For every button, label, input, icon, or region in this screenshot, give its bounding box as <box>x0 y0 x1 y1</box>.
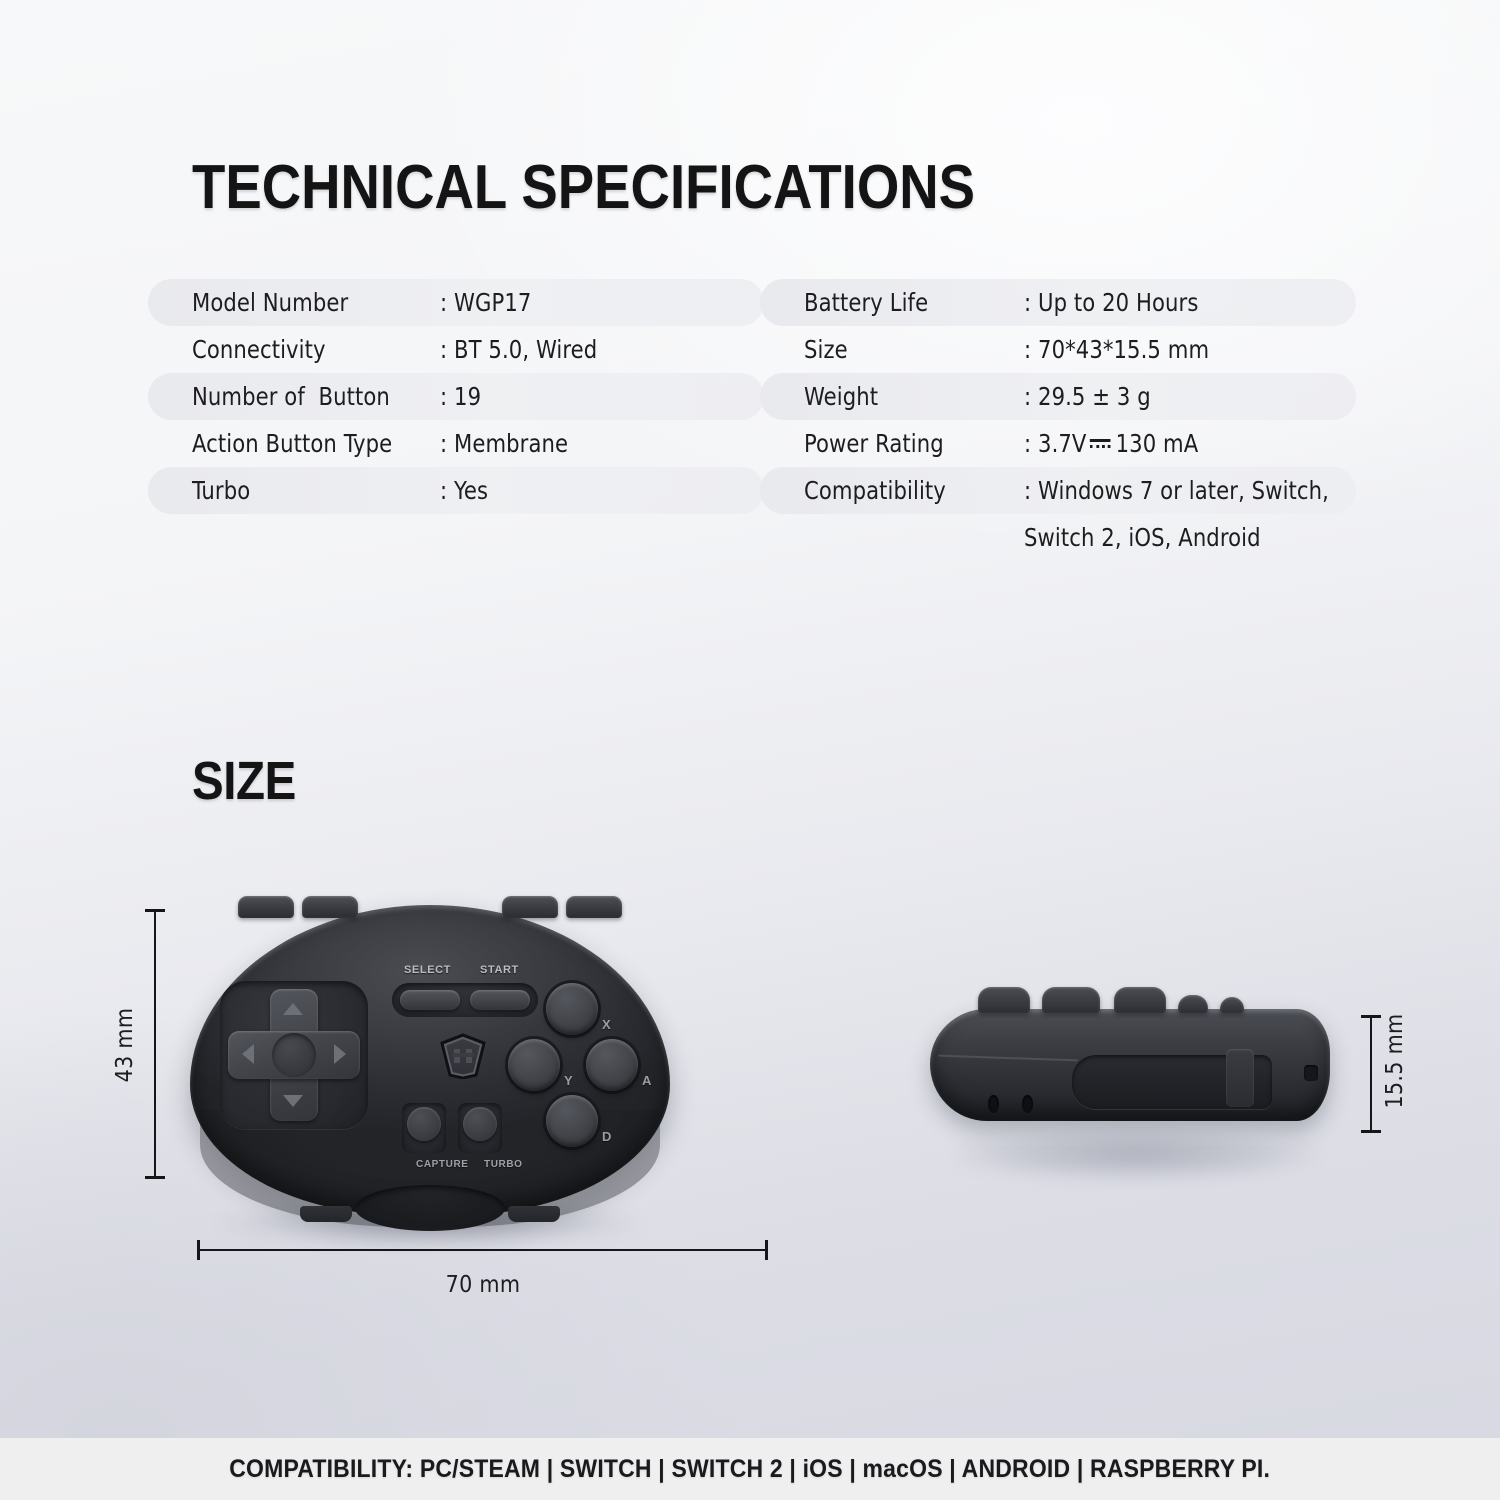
face-button-d-label: D <box>602 1129 611 1144</box>
gamepad-side-hole-2 <box>1022 1095 1033 1113</box>
brand-shield-icon <box>438 1033 488 1079</box>
width-dimension-cap-left <box>197 1240 200 1260</box>
select-button-label: SELECT <box>404 964 451 976</box>
face-button-x <box>546 983 598 1035</box>
spec-value: : WGP17 <box>440 288 741 317</box>
spec-value: : BT 5.0, Wired <box>440 335 741 364</box>
turbo-button-label: TURBO <box>484 1159 523 1170</box>
spec-value-power-rating: : 3.7V130 mA <box>1024 429 1334 458</box>
thickness-dimension-line <box>1370 1016 1372 1132</box>
height-dimension-cap-bottom <box>145 1176 165 1179</box>
thickness-dimension-label: 15.5 mm <box>1382 1006 1408 1116</box>
side-button-5 <box>1220 997 1244 1013</box>
thickness-dimension-cap-top <box>1361 1015 1381 1018</box>
face-button-a <box>586 1039 638 1091</box>
spec-value: : 70*43*15.5 mm <box>1024 335 1334 364</box>
table-row: Weight : 29.5 ± 3 g <box>760 373 1356 420</box>
table-row: Size : 70*43*15.5 mm <box>760 326 1356 373</box>
power-rating-current: 130 mA <box>1116 429 1199 458</box>
dpad-up-arrow-icon <box>283 1003 303 1015</box>
spec-label: Number of Button <box>192 382 425 411</box>
spec-value: : Up to 20 Hours <box>1024 288 1334 317</box>
gamepad-side-view <box>930 995 1330 1125</box>
start-button-label: START <box>480 964 519 976</box>
gamepad-side-shell <box>930 1009 1330 1121</box>
spec-label: Size <box>804 335 1011 364</box>
face-button-y <box>508 1039 560 1091</box>
dpad-down-arrow-icon <box>283 1095 303 1107</box>
table-row: Power Rating : 3.7V130 mA <box>760 420 1356 467</box>
power-rating-voltage: : 3.7V <box>1024 429 1086 458</box>
turbo-button-cap <box>463 1107 497 1141</box>
thickness-dimension-cap-bottom <box>1361 1130 1381 1133</box>
gamepad-side-hole-1 <box>988 1095 999 1113</box>
spec-value: : Membrane <box>440 429 741 458</box>
dc-power-symbol-icon <box>1090 437 1111 450</box>
product-spec-page: TECHNICAL SPECIFICATIONS Model Number : … <box>0 0 1500 1500</box>
select-button <box>400 990 460 1010</box>
gamepad-top-view: SELECT START CAPTURE TURBO <box>190 905 670 1215</box>
table-row: Connectivity : BT 5.0, Wired <box>148 326 764 373</box>
spec-label: Power Rating <box>804 429 1011 458</box>
face-button-x-label: X <box>602 1017 611 1032</box>
spec-value-continued: Switch 2, iOS, Android <box>1024 523 1334 552</box>
spec-label: Connectivity <box>192 335 425 364</box>
spec-label: Weight <box>804 382 1011 411</box>
width-dimension-label: 70 mm <box>198 1272 768 1298</box>
shoulder-button-r1 <box>502 896 558 918</box>
compatibility-footer: COMPATIBILITY: PC/STEAM | SWITCH | SWITC… <box>0 1438 1500 1500</box>
dpad-center <box>272 1033 316 1077</box>
height-dimension-label: 43 mm <box>112 1000 138 1090</box>
width-dimension-cap-right <box>765 1240 768 1260</box>
spec-label: Model Number <box>192 288 425 317</box>
capture-button-label: CAPTURE <box>416 1159 469 1170</box>
compatibility-footer-text: COMPATIBILITY: PC/STEAM | SWITCH | SWITC… <box>230 1455 1271 1484</box>
spec-label: Battery Life <box>804 288 1011 317</box>
gamepad-side-port <box>1304 1065 1318 1081</box>
spec-table-left: Model Number : WGP17 Connectivity : BT 5… <box>148 279 764 514</box>
dpad <box>228 989 360 1121</box>
spec-table-right: Battery Life : Up to 20 Hours Size : 70*… <box>760 279 1356 560</box>
shoulder-button-r2 <box>566 896 622 918</box>
dpad-right-arrow-icon <box>334 1044 346 1064</box>
shoulder-button-l2 <box>302 896 358 918</box>
spec-label: Compatibility <box>804 476 1011 505</box>
side-button-4 <box>1178 995 1208 1013</box>
face-button-a-label: A <box>642 1073 651 1088</box>
table-row: Compatibility : Windows 7 or later, Swit… <box>760 467 1356 514</box>
gamepad-side-tab <box>1226 1049 1254 1107</box>
face-button-d <box>546 1095 598 1147</box>
shoulder-button-l1 <box>238 896 294 918</box>
face-button-y-label: Y <box>564 1073 573 1088</box>
height-dimension-cap-top <box>145 909 165 912</box>
spec-label: Action Button Type <box>192 429 425 458</box>
select-start-well <box>392 983 538 1017</box>
height-dimension-line <box>154 910 156 1178</box>
turbo-button <box>458 1103 502 1153</box>
side-button-3 <box>1114 987 1166 1013</box>
table-row: Turbo : Yes <box>148 467 764 514</box>
size-diagram: 43 mm <box>0 860 1500 1380</box>
gamepad-side-shadow <box>950 1128 1320 1180</box>
page-title-technical-specifications: TECHNICAL SPECIFICATIONS <box>192 152 975 223</box>
gamepad-waist <box>355 1185 505 1231</box>
table-row: Model Number : WGP17 <box>148 279 764 326</box>
spec-label: Turbo <box>192 476 425 505</box>
spec-value: : Yes <box>440 476 741 505</box>
table-row-continuation: Switch 2, iOS, Android <box>760 514 1356 560</box>
spec-value: : 29.5 ± 3 g <box>1024 382 1334 411</box>
capture-button <box>402 1103 446 1153</box>
spec-value: : Windows 7 or later, Switch, <box>1024 476 1334 505</box>
width-dimension-line <box>198 1249 768 1251</box>
table-row: Battery Life : Up to 20 Hours <box>760 279 1356 326</box>
side-button-1 <box>978 987 1030 1013</box>
grip-right <box>508 1206 560 1222</box>
gamepad-side-seam <box>938 1055 1078 1062</box>
start-button <box>470 990 530 1010</box>
spec-value: : 19 <box>440 382 741 411</box>
side-button-2 <box>1042 987 1100 1013</box>
dpad-left-arrow-icon <box>242 1044 254 1064</box>
grip-left <box>300 1206 352 1222</box>
table-row: Action Button Type : Membrane <box>148 420 764 467</box>
capture-button-cap <box>407 1107 441 1141</box>
table-row: Number of Button : 19 <box>148 373 764 420</box>
section-title-size: SIZE <box>192 750 296 812</box>
